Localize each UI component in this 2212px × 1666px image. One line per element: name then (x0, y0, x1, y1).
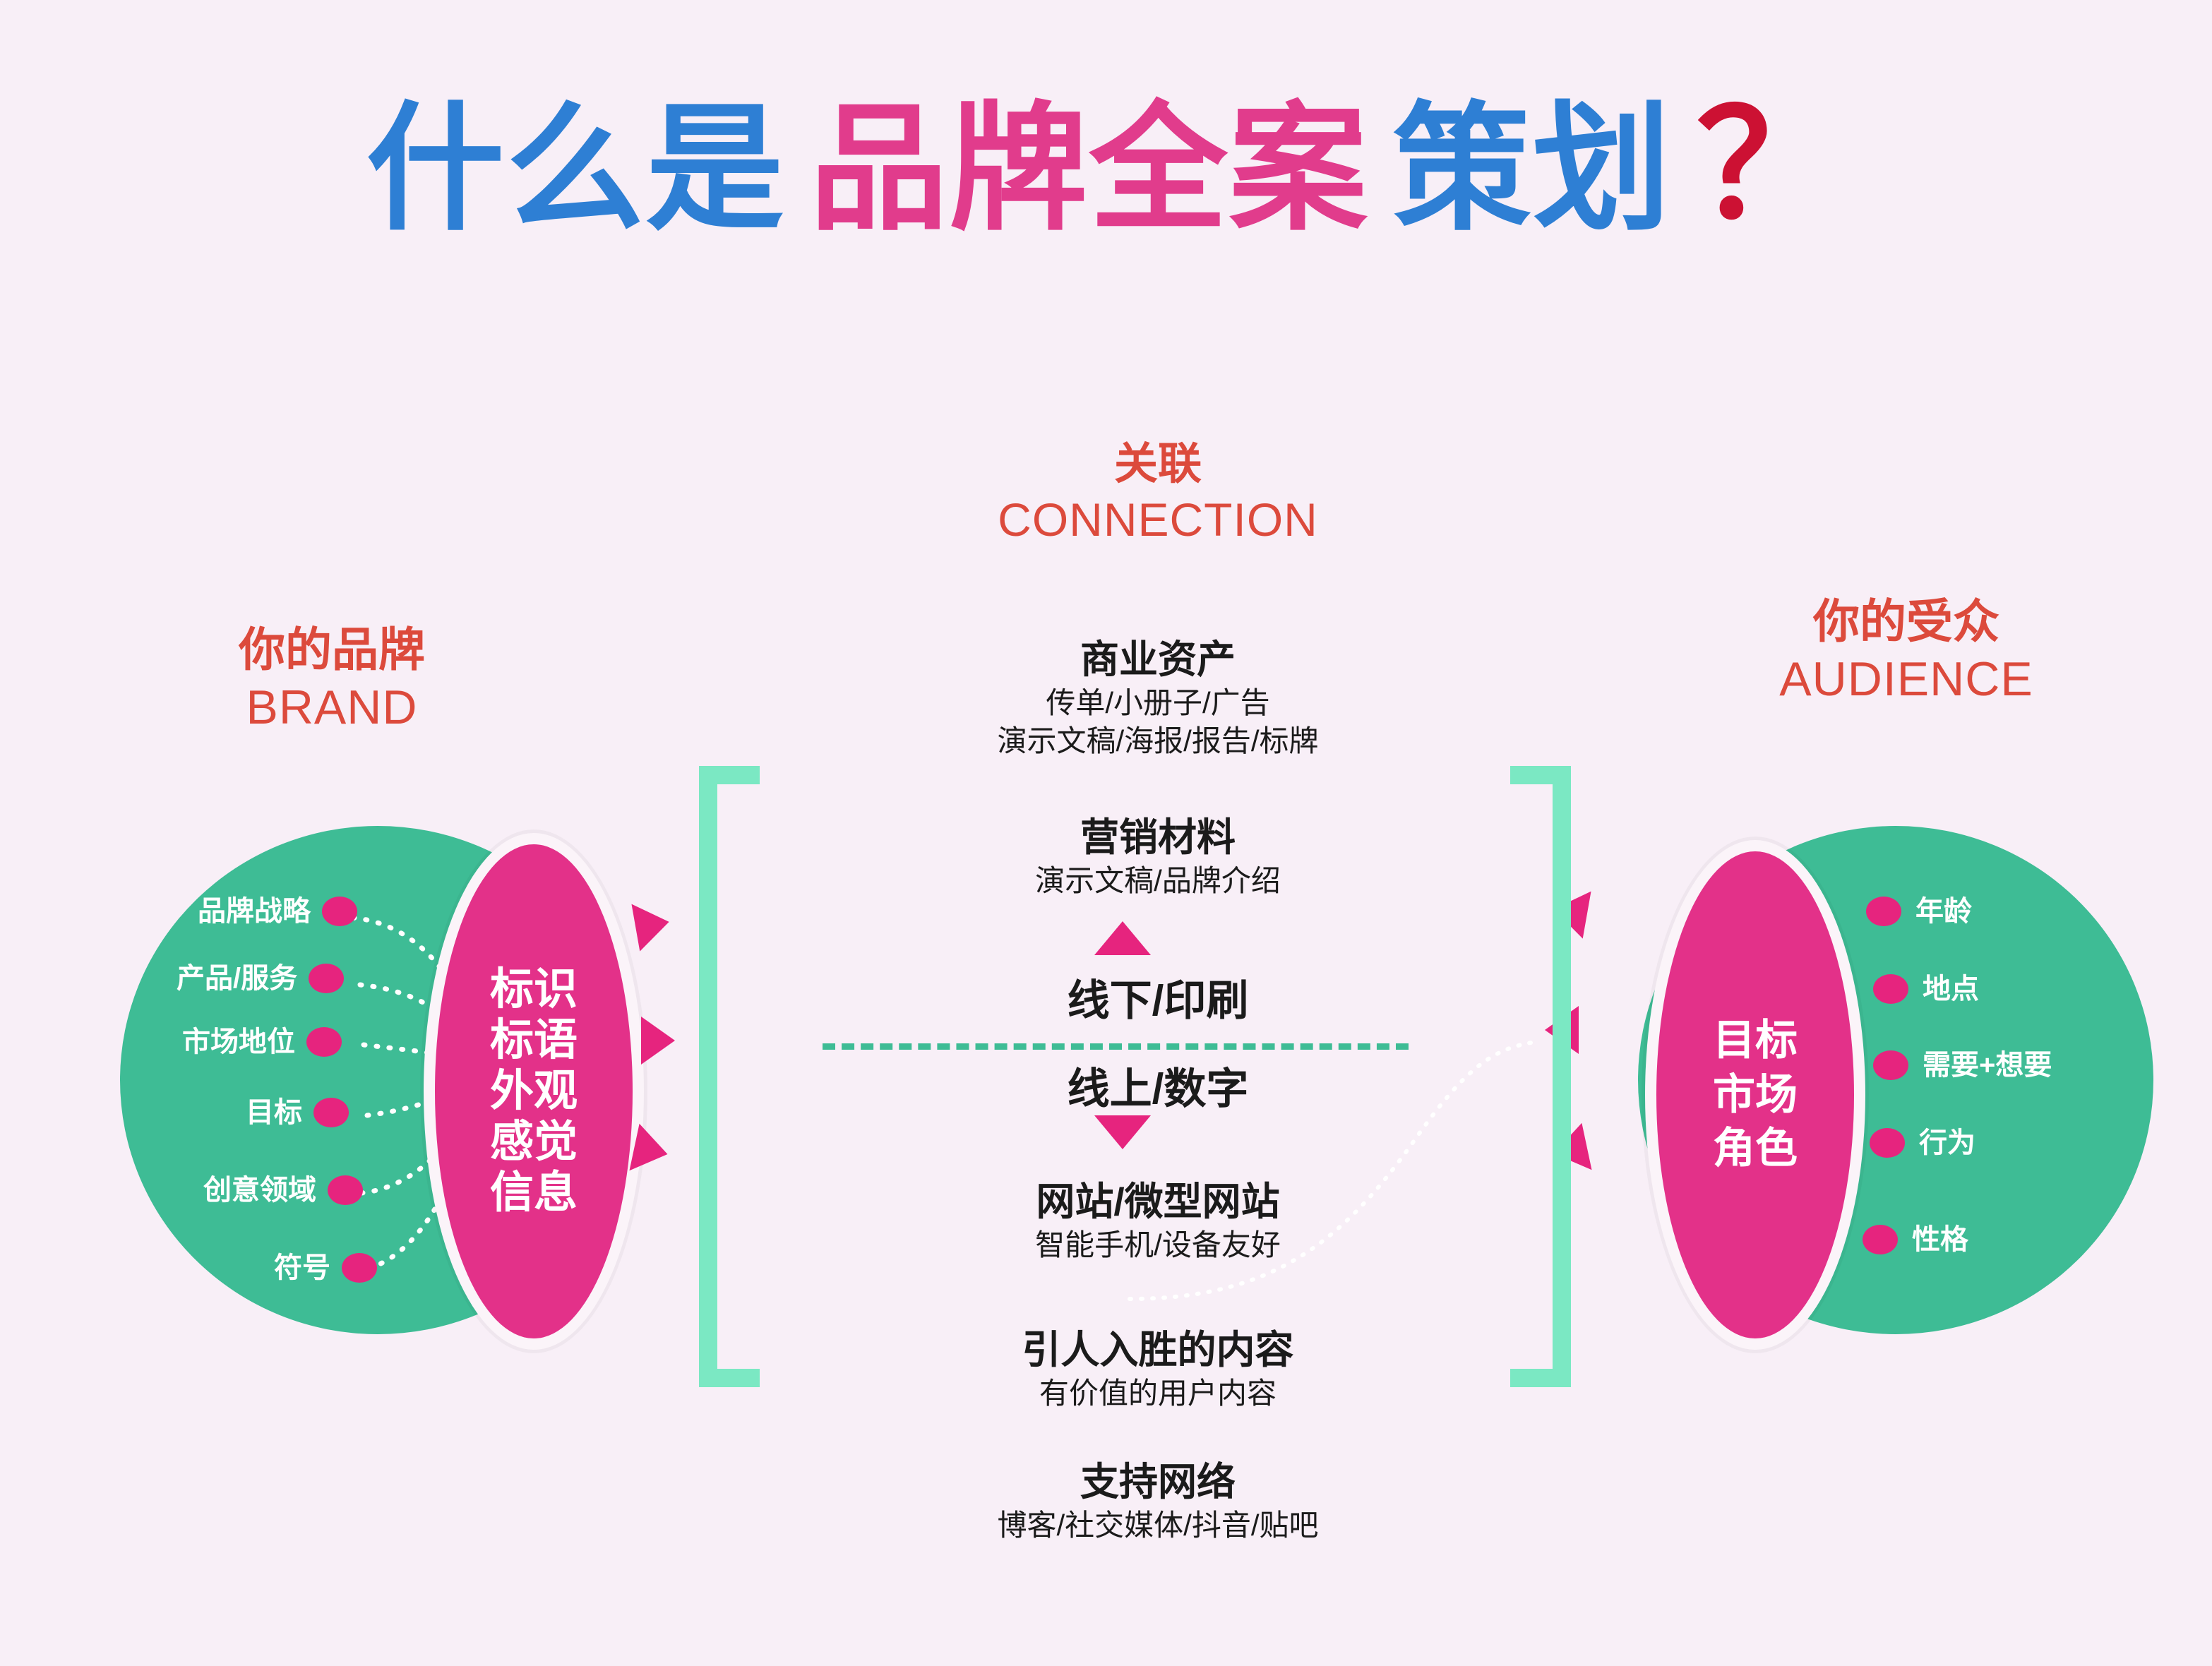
audience-ellipse-text: 目标 市场 角色 (1713, 1014, 1798, 1176)
audience-node-4: 性格 (1863, 1225, 1968, 1254)
title-part-planning: 策划 (1393, 92, 1673, 246)
bracket-top-arm (1510, 766, 1571, 784)
block-title: 网站/微型网站 (854, 1177, 1461, 1226)
offline-up-arrow-icon (1094, 921, 1151, 955)
block-subline-1: 演示文稿/品牌介绍 (854, 862, 1461, 901)
brand-node-dot-icon (306, 1027, 342, 1057)
audience-node-dot-icon (1873, 974, 1908, 1004)
audience-section-heading: 你的受众 AUDIENCE (1645, 593, 2168, 708)
brand-node-dot-icon (313, 1098, 349, 1127)
brand-heading-cn: 你的品牌 (120, 621, 544, 678)
audience-node-label: 地点 (1923, 975, 1979, 1003)
audience-heading-en: AUDIENCE (1645, 650, 2168, 709)
brand-node-1: 产品/服务 (177, 964, 344, 993)
audience-node-dot-icon (1870, 1128, 1905, 1158)
brand-heading-en: BRAND (120, 678, 544, 737)
block-subline-1: 有价值的用户内容 (854, 1374, 1461, 1413)
online-down-arrow-icon (1094, 1115, 1151, 1149)
brand-node-label: 市场地位 (182, 1028, 295, 1056)
audience-node-label: 性格 (1912, 1225, 1968, 1254)
bracket-bottom-arm (1510, 1369, 1571, 1387)
connection-block-business-assets: 商业资产 传单/小册子/广告 演示文稿/海报/报告/标牌 (854, 635, 1461, 761)
audience-node-dot-icon (1866, 897, 1901, 926)
brand-ellipse-text: 标识 标语 外观 感觉 信息 (490, 964, 578, 1218)
bracket-bottom-arm (699, 1369, 760, 1387)
title-part-what-is: 什么是 (366, 92, 785, 246)
connection-block-offline-print: 线下/印刷 (854, 974, 1461, 1027)
audience-node-label: 行为 (1919, 1129, 1975, 1157)
page-title: 什么是品牌全案策划？ (0, 92, 2212, 240)
brand-node-dot-icon (342, 1253, 377, 1283)
left-bracket (699, 766, 777, 1387)
audience-node-dot-icon (1863, 1225, 1898, 1254)
connection-block-online-digital: 线上/数字 (854, 1062, 1461, 1115)
brand-node-3: 目标 (246, 1098, 349, 1127)
title-part-brand-plan: 品牌全案 (809, 92, 1368, 246)
brand-node-5: 符号 (274, 1253, 377, 1283)
brand-section-heading: 你的品牌 BRAND (120, 621, 544, 736)
audience-node-label: 年龄 (1915, 897, 1972, 925)
connection-heading-cn: 关联 (897, 438, 1419, 491)
audience-pink-ellipse: 目标 市场 角色 (1645, 840, 1865, 1350)
connection-block-engaging-content: 引人入胜的内容 有价值的用户内容 (854, 1326, 1461, 1413)
brand-node-0: 品牌战略 (198, 897, 357, 926)
brand-node-dot-icon (322, 897, 357, 926)
block-title: 引人入胜的内容 (854, 1326, 1461, 1374)
infographic-canvas: 什么是品牌全案策划？ 你的品牌 BRAND 你的受众 AUDIENCE 关联 C… (0, 0, 2212, 1666)
brand-node-label: 品牌战略 (198, 897, 311, 925)
brand-node-label: 符号 (274, 1254, 330, 1282)
block-subline-1: 博客/社交媒体/抖音/贴吧 (854, 1506, 1461, 1545)
brand-node-4: 创意领域 (203, 1175, 363, 1205)
audience-node-label: 需要+想要 (1923, 1051, 2052, 1079)
audience-node-0: 年龄 (1866, 897, 1972, 926)
question-mark-icon: ？ (1697, 83, 1846, 248)
block-title: 线上/数字 (854, 1062, 1461, 1115)
brand-node-label: 目标 (246, 1098, 302, 1127)
audience-node-dot-icon (1873, 1050, 1908, 1080)
audience-node-3: 行为 (1870, 1128, 1975, 1158)
brand-node-label: 产品/服务 (177, 964, 297, 993)
brand-node-label: 创意领域 (203, 1176, 316, 1204)
brand-node-dot-icon (328, 1175, 363, 1205)
block-subline-2: 演示文稿/海报/报告/标牌 (854, 722, 1461, 761)
audience-heading-cn: 你的受众 (1645, 593, 2168, 650)
connection-block-support-network: 支持网络 博客/社交媒体/抖音/贴吧 (854, 1458, 1461, 1545)
brand-arrow-icon-2 (641, 1017, 675, 1065)
bracket-top-arm (699, 766, 760, 784)
brand-node-2: 市场地位 (182, 1027, 342, 1057)
block-subline-1: 智能手机/设备友好 (854, 1226, 1461, 1265)
right-bracket (1493, 766, 1571, 1387)
block-subline-1: 传单/小册子/广告 (854, 684, 1461, 723)
brand-pink-ellipse: 标识 标语 外观 感觉 信息 (424, 833, 644, 1350)
audience-node-1: 地点 (1873, 974, 1979, 1004)
bracket-stem (1553, 766, 1571, 1387)
brand-node-dot-icon (309, 964, 344, 993)
connection-heading-en: CONNECTION (897, 491, 1419, 549)
block-title: 线下/印刷 (854, 974, 1461, 1027)
offline-online-divider (823, 1043, 1409, 1050)
bracket-stem (699, 766, 717, 1387)
connection-block-marketing-materials: 营销材料 演示文稿/品牌介绍 (854, 813, 1461, 900)
block-title: 商业资产 (854, 635, 1461, 684)
block-title: 营销材料 (854, 813, 1461, 862)
audience-node-2: 需要+想要 (1873, 1050, 2052, 1080)
connection-block-website: 网站/微型网站 智能手机/设备友好 (854, 1177, 1461, 1264)
brand-arrow-icon-1 (631, 898, 673, 951)
block-title: 支持网络 (854, 1458, 1461, 1506)
connection-section-heading: 关联 CONNECTION (897, 438, 1419, 548)
